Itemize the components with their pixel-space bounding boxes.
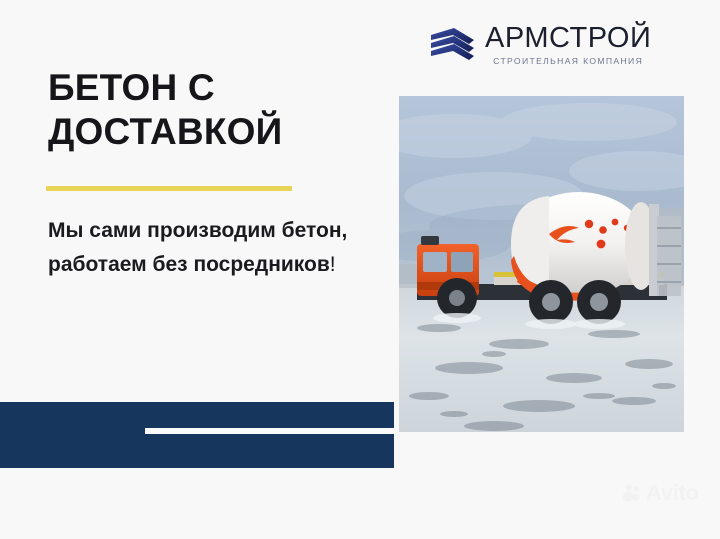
armstroy-layers-icon <box>428 26 478 64</box>
mixer-truck-photo <box>399 96 684 432</box>
promo-banner: АРМСТРОЙ СТРОИТЕЛЬНАЯ КОМПАНИЯ БЕТОН С Д… <box>0 0 720 539</box>
avito-watermark: Avito <box>622 482 699 504</box>
avito-logo-icon <box>622 483 642 503</box>
bottom-accent-band <box>0 402 394 468</box>
accent-divider <box>46 186 292 191</box>
company-logo: АРМСТРОЙ СТРОИТЕЛЬНАЯ КОМПАНИЯ <box>428 24 651 66</box>
hero-subcopy-exclamation: ! <box>330 253 336 276</box>
bottom-band-stripe <box>145 428 394 434</box>
logo-company-name: АРМСТРОЙ <box>485 24 651 53</box>
hero-subcopy: Мы сами производим бетон, работаем без п… <box>48 214 348 282</box>
page-title: БЕТОН С ДОСТАВКОЙ <box>48 66 378 153</box>
avito-watermark-label: Avito <box>646 482 699 504</box>
hero-subcopy-text: Мы сами производим бетон, работаем без п… <box>48 219 347 276</box>
logo-tagline: СТРОИТЕЛЬНАЯ КОМПАНИЯ <box>485 57 651 66</box>
